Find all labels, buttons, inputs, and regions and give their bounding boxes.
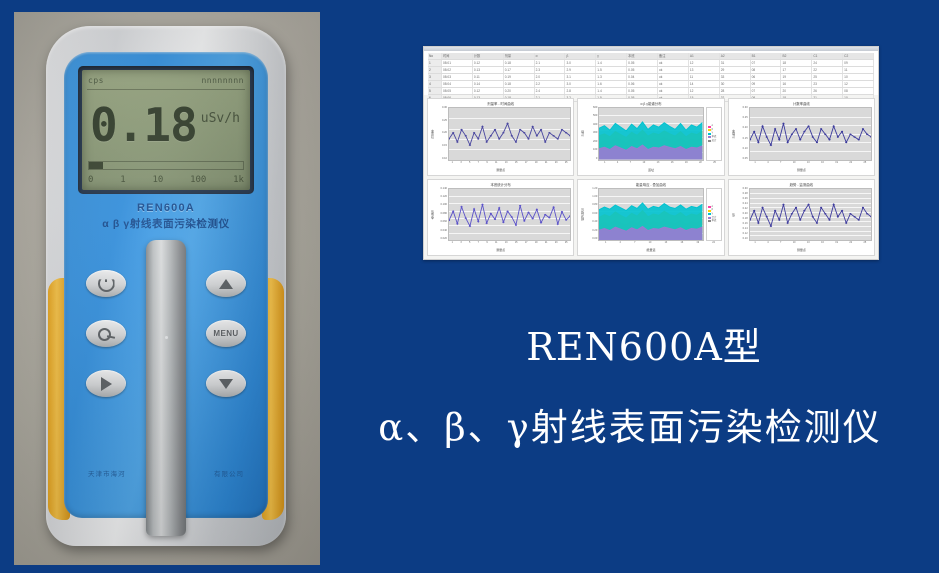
table-cell: 0.05 — [627, 88, 658, 94]
table-cell: 1.5 — [596, 67, 627, 73]
table-cell: 12 — [689, 88, 720, 94]
chart-body: 计数6005004003002001000αβγ本底总计 — [580, 107, 721, 161]
device-model-text: REN600A — [64, 202, 268, 214]
chart-y-tick: 0.30 — [442, 107, 447, 110]
chart-data-point — [515, 224, 517, 226]
table-cell: 2.3 — [535, 67, 566, 73]
chart-data-point — [544, 141, 546, 143]
chart-x-tick: 3 — [460, 241, 461, 244]
caption-line-2: α、β、γ射线表面污染检测仪 — [330, 397, 930, 451]
table-cell: 0.17 — [504, 67, 535, 73]
table-cell: 11 — [689, 74, 720, 80]
lcd-scale-tick: 0 — [88, 175, 93, 187]
chart-x-tick: 19 — [835, 241, 838, 244]
chart-data-point — [511, 135, 513, 137]
chart-panel: 能量响应 - 叠加曲线相对响应1.201.000.800.600.400.200… — [577, 179, 724, 257]
chart-body: 剂量率0.300.250.200.150.10 — [430, 107, 571, 161]
legend-swatch — [708, 136, 711, 138]
chart-data-point — [540, 129, 542, 131]
chart-y-tick: 0.080 — [441, 213, 448, 216]
chart-x-tick: 16 — [671, 161, 674, 164]
chart-x-tick: 22 — [849, 241, 852, 244]
chart-data-point — [481, 126, 483, 128]
chart-data-point — [845, 222, 847, 224]
chart-y-tick: 1.00 — [592, 196, 597, 199]
chart-data-point — [811, 136, 813, 138]
chart-data-point — [803, 131, 805, 133]
chart-x-tick: 1 — [754, 161, 755, 164]
chart-x-tick: 15 — [515, 161, 518, 164]
table-cell: 1.6 — [596, 81, 627, 87]
lcd-unit: uSv/h — [201, 111, 240, 126]
table-cell: 14 — [689, 81, 720, 87]
table-cell: 30 — [720, 81, 751, 87]
table-cell: 07 — [751, 60, 782, 66]
chart-data-point — [832, 125, 834, 127]
chart-data-point — [750, 139, 751, 141]
chart-x-tick: 7 — [780, 241, 781, 244]
chart-data-point — [469, 225, 471, 227]
chart-data-point — [557, 223, 559, 225]
chart-x-ticks: 135791113151719212325 — [430, 161, 571, 168]
table-cell: 08:04 — [442, 81, 473, 87]
chart-data-point — [820, 128, 822, 130]
chart-data-point — [548, 132, 550, 134]
chart-y-tick: 0.120 — [441, 196, 448, 199]
chart-y-tick: 0.15 — [442, 145, 447, 148]
chart-x-tick: 7 — [630, 161, 631, 164]
table-cell: 29 — [720, 67, 751, 73]
chart-x-ticks: 147101316192225 — [731, 241, 872, 248]
chart-y-tick: 0.25 — [442, 120, 447, 123]
table-cell: 0.04 — [627, 74, 658, 80]
chart-data-point — [824, 133, 826, 135]
table-cell: 2.4 — [535, 88, 566, 94]
chart-data-point — [753, 209, 755, 211]
chart-series-svg — [449, 108, 570, 160]
chart-data-point — [532, 126, 534, 128]
chart-x-tick: 15 — [515, 241, 518, 244]
chart-data-point — [494, 129, 496, 131]
chart-data-point — [490, 212, 492, 214]
table-header-cell: 备注 — [658, 53, 689, 59]
chart-data-point — [853, 136, 855, 138]
table-header-row: No时间计数剂量αβγ本底备注A1A2B1B2C1C2 — [428, 53, 874, 60]
software-screenshot: No时间计数剂量αβγ本底备注A1A2B1B2C1C2108:010.120.1… — [423, 46, 879, 260]
chart-data-point — [527, 211, 529, 213]
chart-data-point — [460, 205, 462, 207]
lcd-scale-tick: 10 — [152, 175, 163, 187]
chart-y-ticks: 6005004003002001000 — [585, 107, 598, 161]
chart-y-tick: 600 — [593, 107, 597, 110]
table-cell: 31 — [720, 60, 751, 66]
chart-x-axis-label: 测量点 — [731, 168, 872, 173]
table-header-cell: A2 — [720, 53, 751, 59]
chart-data-point — [862, 206, 864, 208]
chart-data-point — [769, 225, 771, 227]
up-button[interactable] — [206, 270, 246, 297]
chart-plot-area — [448, 188, 571, 242]
chart-y-ticks: 0.300.280.260.240.220.200.180.160.140.12… — [736, 188, 749, 242]
chart-x-tick: 9 — [486, 241, 487, 244]
chart-x-tick: 19 — [685, 161, 688, 164]
chart-y-axis-label: 计数 — [580, 107, 585, 161]
lcd-screen: cps nnnnnnnn 0.18 uSv/h 01101001k — [82, 70, 250, 190]
chart-y-tick: 0.100 — [441, 204, 448, 207]
chart-y-tick: 0.25 — [743, 117, 748, 120]
chart-y-tick: 1.20 — [592, 188, 597, 191]
chart-x-tick: 13 — [807, 241, 810, 244]
chart-x-tick: 3 — [460, 161, 461, 164]
chart-data-point — [565, 219, 567, 221]
chart-data-point — [807, 125, 809, 127]
chart-data-point — [511, 216, 513, 218]
chart-data-point — [828, 139, 830, 141]
chart-plot-area — [749, 107, 872, 161]
chart-body: 计数率0.300.250.200.150.100.05 — [731, 107, 872, 161]
chart-data-point — [490, 135, 492, 137]
chart-x-tick: 1 — [452, 161, 453, 164]
chart-x-tick: 9 — [486, 161, 487, 164]
lcd-scale-tick: 100 — [190, 175, 206, 187]
chart-data-point — [486, 141, 488, 143]
table-cell: ok — [658, 81, 689, 87]
device-description-text: α β γ射线表面污染检测仪 — [64, 216, 268, 231]
chart-data-point — [824, 212, 826, 214]
chart-data-point — [845, 142, 847, 144]
chart-legend-item: 总计 — [708, 140, 720, 143]
legend-swatch — [708, 217, 711, 219]
chart-y-tick: 0.60 — [592, 213, 597, 216]
chart-y-tick: 0.10 — [743, 148, 748, 151]
chart-data-point — [816, 142, 818, 144]
chart-data-point — [811, 216, 813, 218]
table-cell: 33 — [720, 74, 751, 80]
chart-series-svg — [750, 189, 871, 241]
table-cell: 25 — [812, 74, 843, 80]
table-cell: 08:01 — [442, 60, 473, 66]
table-cell: 3.0 — [565, 60, 596, 66]
table-cell: 11 — [843, 67, 874, 73]
chart-x-tick: 25 — [565, 241, 568, 244]
chart-data-point — [790, 212, 792, 214]
chart-y-tick: 100 — [593, 149, 597, 152]
chart-data-point — [853, 216, 855, 218]
table-cell: 1.4 — [596, 60, 627, 66]
chart-data-point — [469, 144, 471, 146]
chart-data-point — [862, 128, 864, 130]
magnifier-icon — [98, 328, 114, 339]
table-cell: 3 — [428, 74, 442, 80]
table-cell: 08 — [751, 67, 782, 73]
chart-y-tick: 0.060 — [441, 221, 448, 224]
chart-x-tick: 13 — [665, 241, 668, 244]
chart-data-point — [778, 139, 780, 141]
triangle-down-icon — [219, 379, 233, 389]
chart-data-point — [565, 132, 567, 134]
chart-y-tick: 0.80 — [592, 204, 597, 207]
chart-data-point — [561, 210, 563, 212]
table-header-cell: 时间 — [442, 53, 473, 59]
chart-panel: 计数率曲线计数率0.300.250.200.150.100.0514710131… — [728, 98, 875, 176]
chart-panel: 剂量率 - 时间曲线剂量率0.300.250.200.150.101357911… — [427, 98, 574, 176]
chart-y-tick: 0.12 — [743, 233, 748, 236]
chart-data-point — [841, 131, 843, 133]
chart-data-point — [515, 141, 517, 143]
table-cell: 07 — [751, 88, 782, 94]
table-cell: 06 — [751, 74, 782, 80]
table-cell: 0.20 — [504, 88, 535, 94]
chart-plot-area — [749, 188, 872, 242]
chart-y-tick: 400 — [593, 124, 597, 127]
chart-data-point — [473, 132, 475, 134]
chart-data-point — [849, 133, 851, 135]
chart-data-point — [765, 136, 767, 138]
lcd-scale-tick: 1 — [120, 175, 125, 187]
table-cell: 20 — [781, 88, 812, 94]
chart-x-tick: 1 — [604, 161, 605, 164]
chart-data-point — [757, 222, 759, 224]
chart-data-point — [782, 203, 784, 205]
chart-data-point — [544, 213, 546, 215]
chart-line-series — [449, 204, 570, 226]
play-button[interactable] — [86, 370, 126, 397]
chart-data-point — [481, 203, 483, 205]
chart-data-point — [799, 139, 801, 141]
table-header-cell: α — [535, 53, 566, 59]
table-cell: 2.1 — [535, 60, 566, 66]
chart-x-tick: 13 — [807, 161, 810, 164]
chart-data-point — [498, 138, 500, 140]
chart-x-axis-label: 能量道 — [580, 248, 721, 253]
table-cell: 1.3 — [596, 74, 627, 80]
chart-y-tick: 0.24 — [743, 203, 748, 206]
chart-x-tick: 11 — [495, 241, 497, 244]
chart-x-tick: 7 — [634, 241, 635, 244]
chart-data-point — [506, 123, 508, 125]
down-button[interactable] — [206, 370, 246, 397]
device-body: cps nnnnnnnn 0.18 uSv/h 01101001k — [46, 26, 286, 546]
chart-data-point — [836, 216, 838, 218]
chart-data-point — [456, 141, 458, 143]
chart-x-tick: 16 — [680, 241, 683, 244]
table-cell: 1 — [428, 60, 442, 66]
lcd-status-left: cps — [88, 76, 104, 85]
legend-swatch — [708, 220, 711, 222]
chart-x-axis-label: 测量点 — [731, 248, 872, 253]
chart-data-point — [778, 219, 780, 221]
legend-swatch — [708, 213, 711, 215]
chart-x-axis-label: 道址 — [580, 168, 721, 173]
caption-line-1: REN600A型 — [330, 316, 930, 371]
chart-body: 相对响应1.201.000.800.600.400.200.00αβγ合计本底 — [580, 188, 721, 242]
chart-data-point — [750, 219, 751, 221]
chart-y-axis-label: 剂量率 — [430, 107, 435, 161]
chart-data-point — [841, 209, 843, 211]
chart-x-tick: 4 — [767, 161, 768, 164]
chart-y-tick: 0.20 — [743, 127, 748, 130]
table-header-cell: 剂量 — [504, 53, 535, 59]
chart-data-point — [857, 139, 859, 141]
chart-y-axis-label: 计数率 — [731, 107, 736, 161]
chart-data-point — [553, 135, 555, 137]
lcd-status-right: nnnnnnnn — [201, 76, 244, 85]
triangle-up-icon — [219, 279, 233, 289]
chart-data-point — [753, 131, 755, 133]
chart-x-tick: 10 — [649, 241, 652, 244]
chart-x-tick: 21 — [545, 241, 548, 244]
table-row: 108:010.120.182.13.01.40.05ok12310718240… — [428, 60, 874, 67]
slide-canvas: cps nnnnnnnn 0.18 uSv/h 01101001k — [0, 0, 939, 573]
table-cell: 10 — [843, 74, 874, 80]
chart-x-tick: 23 — [555, 161, 558, 164]
chart-x-tick: 17 — [525, 241, 528, 244]
chart-y-tick: 0.20 — [442, 132, 447, 135]
chart-data-point — [452, 210, 454, 212]
chart-data-point — [786, 222, 788, 224]
lcd-scale: 01101001k — [88, 175, 244, 187]
table-header-cell: A1 — [689, 53, 720, 59]
chart-x-ticks: 135791113151719212325 — [430, 241, 571, 248]
chart-x-tick: 23 — [555, 241, 558, 244]
chart-x-tick: 7 — [780, 161, 781, 164]
legend-swatch — [708, 133, 711, 135]
chart-plot-area — [448, 107, 571, 161]
chart-y-tick: 0.16 — [743, 223, 748, 226]
chart-x-tick: 25 — [864, 161, 867, 164]
chart-data-point — [803, 209, 805, 211]
table-header-cell: γ — [596, 53, 627, 59]
chart-data-point — [498, 207, 500, 209]
table-cell: 08:03 — [442, 74, 473, 80]
table-cell: 09 — [843, 60, 874, 66]
table-cell: 3.0 — [565, 81, 596, 87]
table-cell: 5 — [428, 88, 442, 94]
legend-swatch — [708, 210, 711, 212]
table-cell: 0.05 — [627, 67, 658, 73]
table-cell: 22 — [812, 67, 843, 73]
table-cell: 23 — [812, 81, 843, 87]
table-cell: 2.8 — [565, 88, 596, 94]
chart-legend: αβγ本底总计 — [706, 107, 722, 161]
chart-data-point — [486, 222, 488, 224]
chart-data-point — [548, 216, 550, 218]
chart-x-tick: 13 — [505, 241, 508, 244]
chart-x-tick: 10 — [793, 161, 796, 164]
power-button[interactable] — [86, 270, 126, 297]
chart-panel: α β γ能谱分布计数6005004003002001000αβγ本底总计147… — [577, 98, 724, 176]
chart-data-point — [540, 221, 542, 223]
table-cell: ok — [658, 60, 689, 66]
lcd-scale-tick: 1k — [233, 175, 244, 187]
power-icon — [98, 275, 115, 292]
chart-data-point — [465, 135, 467, 137]
table-cell: 08:05 — [442, 88, 473, 94]
chart-legend-item: β — [708, 209, 720, 212]
chart-legend-item: 本底 — [708, 220, 720, 223]
table-row: 308:030.110.192.03.11.30.04ok11330619251… — [428, 74, 874, 81]
table-cell: 08:02 — [442, 67, 473, 73]
chart-y-ticks: 0.1400.1200.1000.0800.0600.0400.020 — [435, 188, 448, 242]
chart-data-point — [449, 138, 450, 140]
chart-legend: αβγ合计本底 — [706, 188, 722, 242]
table-header-cell: β — [565, 53, 596, 59]
chart-x-tick: 22 — [849, 161, 852, 164]
chart-x-tick: 13 — [657, 161, 660, 164]
table-header-cell: 计数 — [473, 53, 504, 59]
chart-x-tick: 19 — [535, 241, 538, 244]
chart-x-axis-label: 测量点 — [430, 168, 571, 173]
chart-data-point — [795, 206, 797, 208]
table-cell: 0.06 — [627, 81, 658, 87]
chart-data-point — [857, 219, 859, 221]
chart-data-point — [477, 138, 479, 140]
chart-x-tick: 17 — [525, 161, 528, 164]
table-header-cell: C1 — [812, 53, 843, 59]
legend-swatch — [708, 126, 711, 128]
chart-line-series — [750, 123, 871, 145]
chart-y-tick: 200 — [593, 141, 597, 144]
table-cell: 0.12 — [473, 88, 504, 94]
table-cell: 0.13 — [473, 67, 504, 73]
chart-data-point — [765, 216, 767, 218]
chart-data-point — [532, 217, 534, 219]
chart-data-point — [828, 219, 830, 221]
chart-panel: 趋势 - 监测曲线值0.300.280.260.240.220.200.180.… — [728, 179, 875, 257]
chart-data-point — [502, 132, 504, 134]
chart-data-point — [866, 133, 868, 135]
table-cell: 13 — [689, 67, 720, 73]
chart-x-ticks: 1471013161922 — [580, 241, 721, 248]
chart-y-ticks: 1.201.000.800.600.400.200.00 — [585, 188, 598, 242]
chart-x-axis-label: 测量点 — [430, 248, 571, 253]
chart-x-tick: 22 — [699, 161, 702, 164]
table-cell: 09 — [751, 81, 782, 87]
lcd-divider — [87, 89, 245, 90]
chart-line-series — [449, 123, 570, 145]
chart-x-tick: 19 — [835, 161, 838, 164]
table-header-cell: C2 — [843, 53, 874, 59]
menu-button[interactable]: MENU — [206, 320, 246, 347]
chart-y-tick: 0.26 — [743, 198, 748, 201]
chart-x-tick: 7 — [478, 161, 479, 164]
table-cell: 1.4 — [596, 88, 627, 94]
chart-x-ticks: 147101316192225 — [731, 161, 872, 168]
table-header-cell: No — [428, 53, 442, 59]
chart-data-point — [449, 219, 450, 221]
search-button[interactable] — [86, 320, 126, 347]
chart-legend-item: β — [708, 129, 720, 132]
chart-data-point — [561, 129, 563, 131]
chart-y-tick: 0.22 — [743, 208, 748, 211]
chart-x-tick: 7 — [478, 241, 479, 244]
table-cell: 12 — [843, 81, 874, 87]
table-header-cell: B2 — [781, 53, 812, 59]
chart-y-tick: 0.30 — [743, 107, 748, 110]
chart-data-point — [502, 221, 504, 223]
chart-y-ticks: 0.300.250.200.150.100.05 — [736, 107, 749, 161]
chart-y-tick: 500 — [593, 115, 597, 118]
chart-x-tick: 10 — [793, 241, 796, 244]
chart-y-tick: 0.30 — [743, 188, 748, 191]
table-row: 208:020.130.172.32.91.50.05ok13290817221… — [428, 67, 874, 74]
chart-x-tick: 13 — [505, 161, 508, 164]
chart-x-tick: 22 — [712, 241, 715, 244]
table-row: 408:040.140.182.23.01.60.06ok14300916231… — [428, 81, 874, 88]
caption-block: REN600A型 α、β、γ射线表面污染检测仪 — [330, 316, 930, 451]
chart-x-tick: 25 — [713, 161, 716, 164]
chart-data-point — [452, 132, 454, 134]
